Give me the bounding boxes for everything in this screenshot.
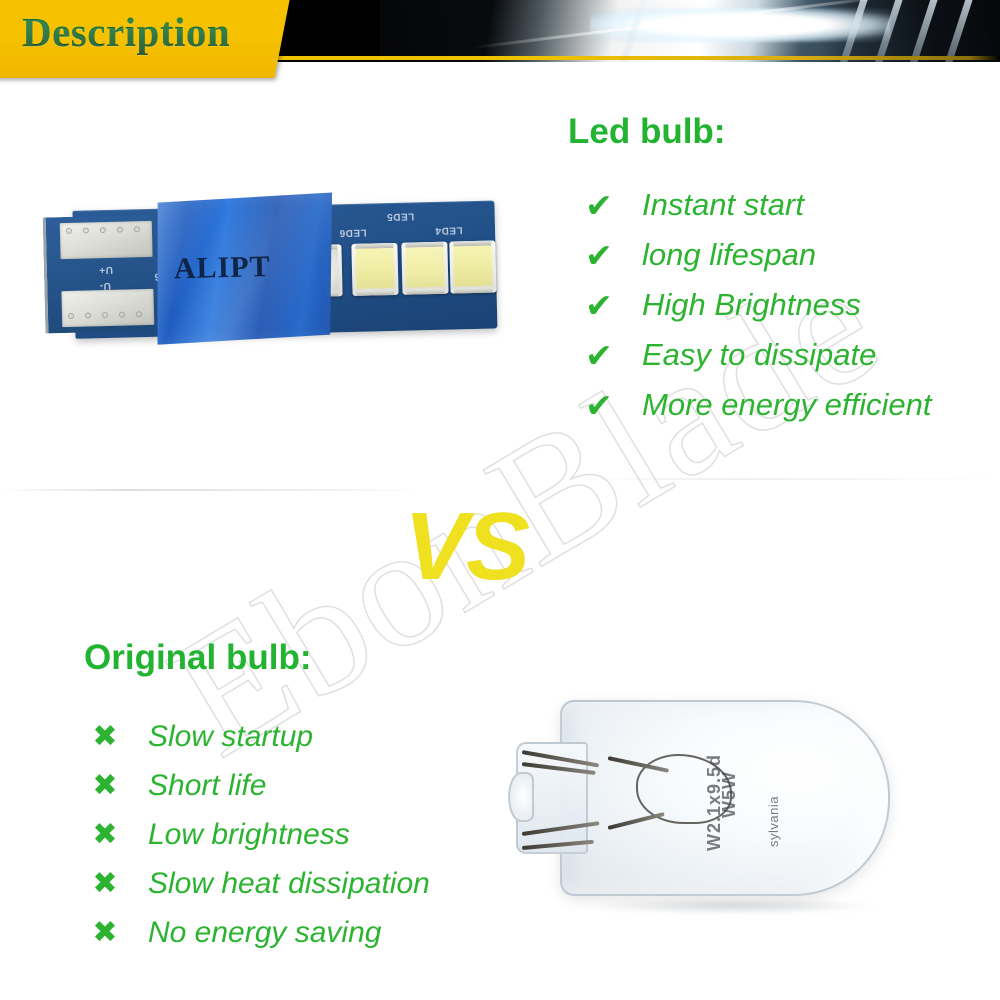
check-icon: ✔ bbox=[576, 386, 622, 425]
original-drawback-text: No energy saving bbox=[148, 916, 381, 950]
cross-icon: ✖ bbox=[84, 817, 126, 852]
product-description-page: Description EbonBlade U+ U- bbox=[0, 0, 1000, 1000]
led-chip-yellow-2 bbox=[401, 242, 448, 295]
list-item: ✔ More energy efficient bbox=[576, 380, 931, 430]
background-seam bbox=[0, 489, 420, 491]
contact-pad-top bbox=[60, 221, 153, 259]
led-chip-yellow-3 bbox=[449, 240, 496, 293]
list-item: ✔ High Brightness bbox=[576, 280, 931, 330]
led-benefit-text: High Brightness bbox=[642, 287, 861, 323]
led-bulb-list: ✔ Instant start ✔ long lifespan ✔ High B… bbox=[576, 180, 931, 430]
silkscreen-led6: LED6 bbox=[339, 227, 367, 239]
bulb-marking-brand: sylvania bbox=[766, 796, 781, 847]
cross-icon: ✖ bbox=[84, 719, 126, 754]
check-icon: ✔ bbox=[576, 286, 622, 325]
page-title: Description bbox=[22, 8, 230, 56]
list-item: ✔ Easy to dissipate bbox=[576, 330, 931, 380]
versus-label: VS bbox=[404, 492, 528, 602]
original-drawback-text: Slow heat dissipation bbox=[148, 867, 430, 901]
bulb-glass-envelope: W2.1x9.5d W5W sylvania bbox=[560, 700, 890, 896]
check-icon: ✔ bbox=[576, 336, 622, 375]
led-benefit-text: Easy to dissipate bbox=[642, 337, 876, 373]
list-item: ✖ Low brightness bbox=[84, 810, 430, 859]
original-bulb-heading: Original bulb: bbox=[84, 638, 311, 678]
cross-icon: ✖ bbox=[84, 915, 126, 950]
list-item: ✔ Instant start bbox=[576, 180, 931, 230]
list-item: ✖ Slow startup bbox=[84, 712, 430, 761]
tape-brand-label: ALIPT bbox=[173, 250, 270, 286]
original-drawback-text: Short life bbox=[148, 769, 266, 803]
blue-tape: ALIPT bbox=[152, 192, 336, 344]
filament-lead bbox=[608, 812, 665, 830]
cross-icon: ✖ bbox=[84, 768, 126, 803]
led-benefit-text: Instant start bbox=[642, 187, 804, 223]
bulb-pinch-tip bbox=[508, 772, 534, 822]
halogen-bulb-photo: W2.1x9.5d W5W sylvania bbox=[508, 690, 908, 920]
grille-slat bbox=[906, 0, 941, 62]
silkscreen-u-plus: U+ bbox=[99, 264, 113, 275]
original-drawback-text: Slow startup bbox=[148, 720, 313, 754]
original-bulb-list: ✖ Slow startup ✖ Short life ✖ Low bright… bbox=[84, 712, 430, 957]
background-seam-right bbox=[560, 478, 1000, 480]
led-board-photo: U+ U- R3 D6 LED3 LED6 LED5 LED4 R5 bbox=[36, 188, 506, 356]
contact-pad-bottom bbox=[61, 289, 154, 327]
original-drawback-text: Low brightness bbox=[148, 818, 350, 852]
led-bulb-heading: Led bulb: bbox=[568, 112, 725, 152]
check-icon: ✔ bbox=[576, 186, 622, 225]
cross-icon: ✖ bbox=[84, 866, 126, 901]
grille-slat bbox=[941, 0, 976, 62]
pcb-wedge-base: U+ U- bbox=[43, 215, 156, 334]
silkscreen-u-minus: U- bbox=[99, 280, 111, 291]
led-benefit-text: More energy efficient bbox=[642, 387, 931, 423]
list-item: ✖ No energy saving bbox=[84, 908, 430, 957]
check-icon: ✔ bbox=[576, 236, 622, 275]
list-item: ✖ Short life bbox=[84, 761, 430, 810]
list-item: ✔ long lifespan bbox=[576, 230, 931, 280]
silkscreen-led5: LED5 bbox=[387, 210, 415, 222]
bulb-marking-watt: W5W bbox=[719, 771, 740, 818]
led-chip-yellow-1 bbox=[351, 243, 398, 296]
list-item: ✖ Slow heat dissipation bbox=[84, 859, 430, 908]
led-benefit-text: long lifespan bbox=[642, 237, 816, 273]
silkscreen-led4: LED4 bbox=[435, 224, 463, 236]
headlight-photo bbox=[380, 0, 1000, 62]
bulb-shadow bbox=[588, 898, 878, 914]
